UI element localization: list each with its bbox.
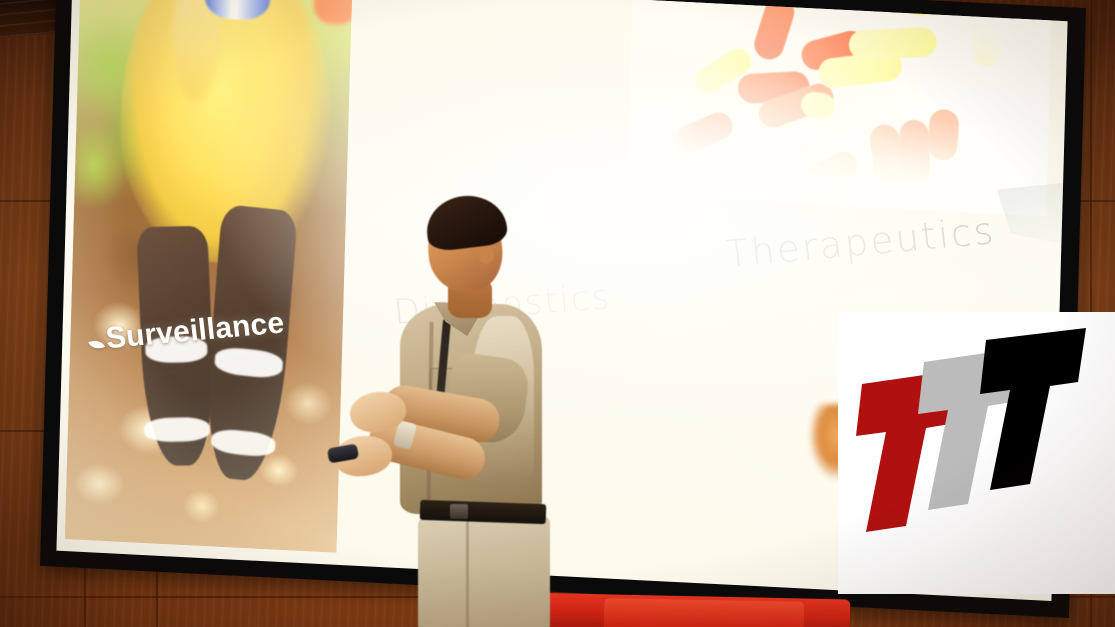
logo-letter-t-black (980, 328, 1086, 490)
screenshot-root: Surveillance (0, 0, 1115, 627)
speaker-ear (478, 244, 494, 264)
trouser-seam (466, 520, 469, 627)
photo-vignette (65, 0, 353, 553)
ttt-logo-mark (854, 328, 1102, 538)
red-seating-front (604, 598, 804, 627)
speaker-trousers (418, 516, 550, 627)
belt-buckle (450, 504, 468, 519)
photo-pills-capsules (627, 0, 1053, 216)
speaker-presenter (322, 196, 572, 627)
leaf-icon (88, 337, 105, 353)
photo-boots-in-mud (65, 0, 353, 553)
slide-label-therapeutics: Therapeutics (724, 209, 998, 276)
pills-overexposure (627, 0, 1053, 216)
ttt-logo-panel (838, 312, 1115, 594)
